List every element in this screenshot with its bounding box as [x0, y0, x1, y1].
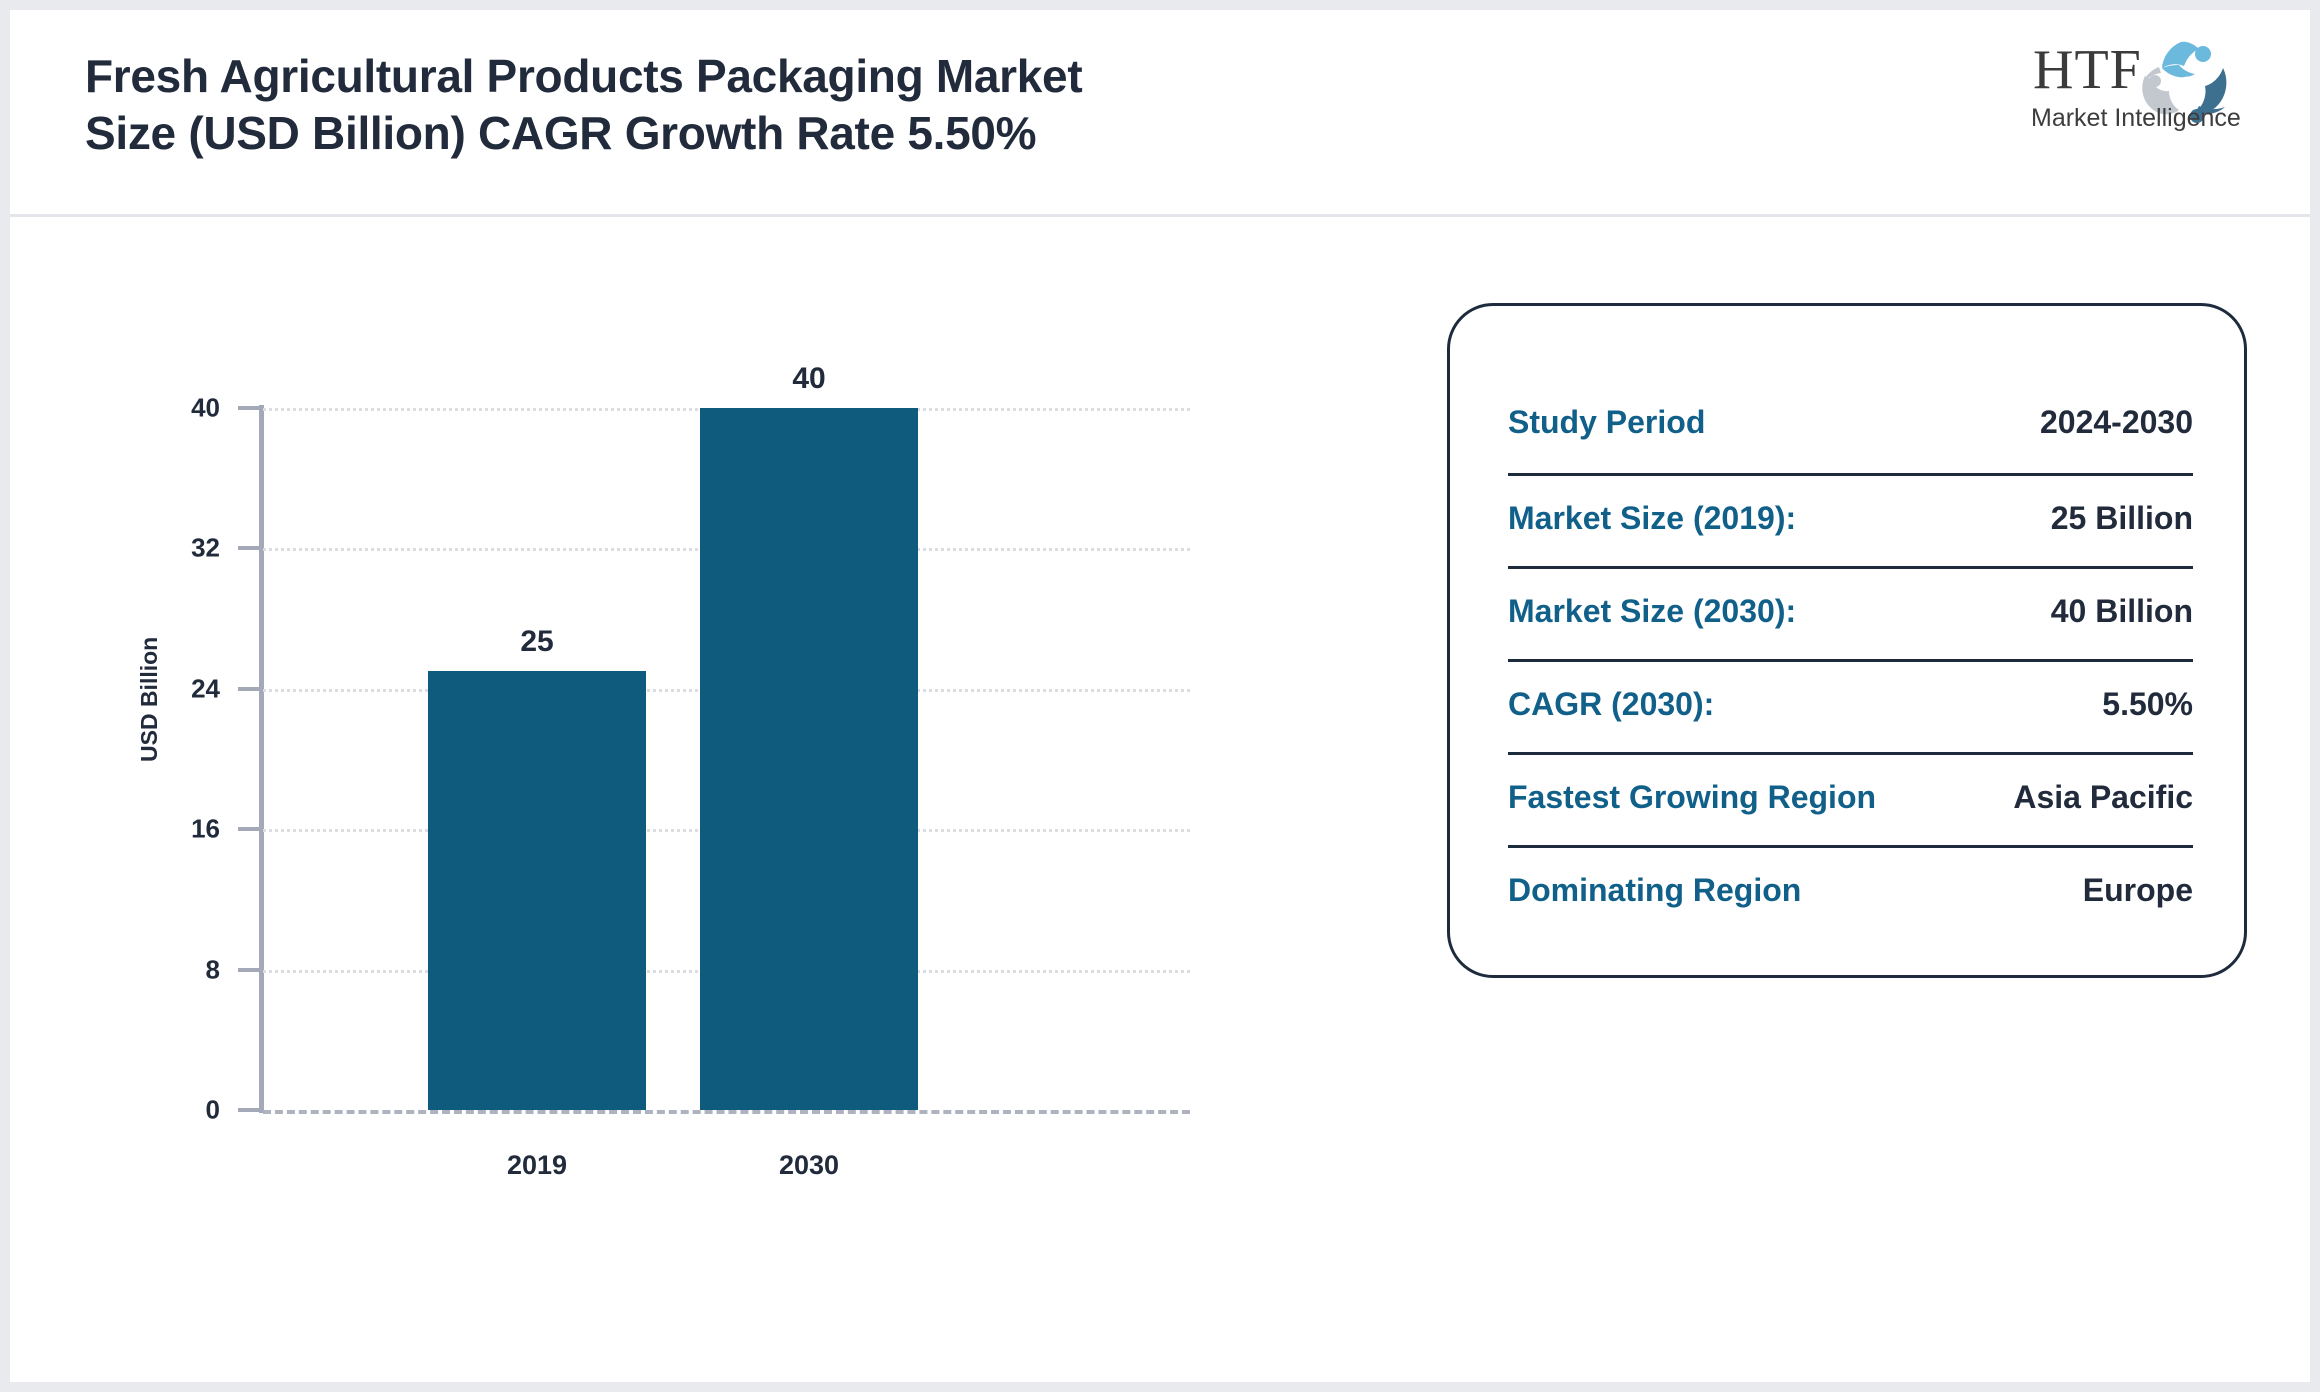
bar[interactable]	[428, 671, 646, 1110]
summary-row-value: Europe	[2083, 848, 2193, 909]
plot-area	[263, 408, 1190, 1110]
bar-value-label: 25	[520, 625, 553, 659]
htf-market-intelligence-logo: HTF Ma	[2025, 30, 2255, 150]
y-tick-label: 16	[160, 814, 220, 845]
x-axis-line	[263, 1110, 1190, 1114]
y-tick-mark	[238, 968, 260, 972]
page-header: Fresh Agricultural Products Packaging Ma…	[10, 10, 2310, 217]
summary-row-value: 25 Billion	[2051, 476, 2193, 537]
y-tick-label: 32	[160, 533, 220, 564]
bar[interactable]	[700, 408, 918, 1110]
summary-row-value: Asia Pacific	[2013, 755, 2193, 816]
bar-value-label: 40	[792, 362, 825, 396]
x-axis-label: 2019	[507, 1150, 567, 1181]
summary-row-value: 2024-2030	[2040, 380, 2193, 441]
summary-row-label: Market Size (2030):	[1508, 569, 1796, 630]
summary-row: CAGR (2030):5.50%	[1508, 659, 2193, 752]
summary-row-label: Dominating Region	[1508, 848, 1801, 909]
y-tick-mark	[238, 687, 260, 691]
bar-chart: USD Billion 0816243240 2540 20192030	[10, 217, 1310, 1392]
y-axis-title: USD Billion	[136, 637, 163, 762]
y-tick-label: 0	[160, 1095, 220, 1126]
chart-page: Fresh Agricultural Products Packaging Ma…	[0, 0, 2320, 1392]
summary-row-value: 5.50%	[2102, 662, 2193, 723]
market-summary-card: Study Period2024-2030Market Size (2019):…	[1447, 303, 2247, 978]
page-title: Fresh Agricultural Products Packaging Ma…	[85, 48, 1385, 161]
logo-wordmark: HTF	[2033, 42, 2142, 98]
y-tick-label: 40	[160, 393, 220, 424]
summary-row-label: Market Size (2019):	[1508, 476, 1796, 537]
x-axis-label: 2030	[779, 1150, 839, 1181]
summary-row: Market Size (2019):25 Billion	[1508, 473, 2193, 566]
summary-row: Market Size (2030):40 Billion	[1508, 566, 2193, 659]
summary-row-label: CAGR (2030):	[1508, 662, 1714, 723]
summary-row: Fastest Growing RegionAsia Pacific	[1508, 752, 2193, 845]
logo-subtitle: Market Intelligence	[2031, 104, 2241, 133]
y-tick-label: 24	[160, 673, 220, 704]
y-tick-mark	[238, 546, 260, 550]
y-tick-label: 8	[160, 954, 220, 985]
summary-row-label: Study Period	[1508, 380, 1705, 441]
summary-row: Dominating RegionEurope	[1508, 845, 2193, 938]
y-tick-mark	[238, 1108, 260, 1112]
summary-row-label: Fastest Growing Region	[1508, 755, 1876, 816]
summary-row-value: 40 Billion	[2051, 569, 2193, 630]
y-tick-mark	[238, 827, 260, 831]
y-tick-mark	[238, 406, 260, 410]
summary-row: Study Period2024-2030	[1508, 380, 2193, 473]
summary-rows: Study Period2024-2030Market Size (2019):…	[1508, 380, 2193, 938]
